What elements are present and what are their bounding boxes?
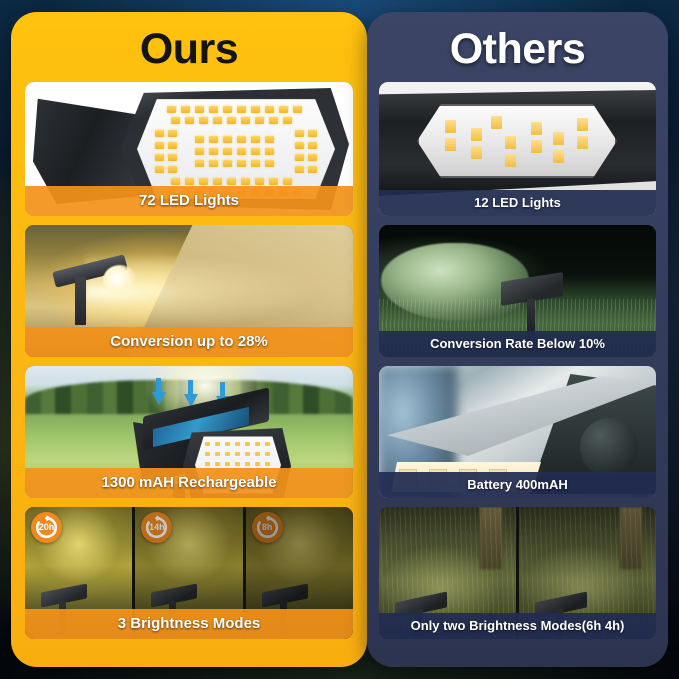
- mount-knob: [580, 418, 638, 476]
- image-three-mode-thumbnails: 20h 14h: [25, 507, 353, 639]
- caption-others-brightness-modes: Only two Brightness Modes(6h 4h): [379, 613, 656, 639]
- caption-ours-brightness-modes: 3 Brightness Modes: [25, 609, 353, 639]
- comparison-infographic: Ours: [0, 0, 679, 679]
- card-others-conversion: Conversion Rate Below 10%: [379, 225, 656, 357]
- lamp-bulb-glow: [103, 265, 137, 295]
- caption-others-conversion: Conversion Rate Below 10%: [379, 331, 656, 357]
- card-others-battery: Battery 400mAH: [379, 366, 656, 498]
- solar-arrow-icon: [152, 392, 166, 405]
- runtime-badge-label: 14h: [149, 523, 165, 532]
- card-ours-battery: 1300 mAH Rechargeable: [25, 366, 353, 498]
- caption-others-battery: Battery 400mAH: [379, 472, 656, 498]
- image-two-mode-thumbnails: Only two Brightness Modes(6h 4h): [379, 507, 656, 639]
- card-ours-brightness-modes: 20h 14h: [25, 507, 353, 639]
- panel-title-ours: Ours: [11, 12, 367, 82]
- caption-others-led-lights: 12 LED Lights: [379, 190, 656, 216]
- image-led-fixture-front: 72 LED Lights: [25, 82, 353, 216]
- fixture-lens-face: [417, 104, 617, 178]
- panel-ours: Ours: [11, 12, 367, 667]
- lamp-stem: [75, 277, 86, 325]
- runtime-badge-20h: 20h: [31, 512, 62, 543]
- card-ours-led-lights: 72 LED Lights: [25, 82, 353, 216]
- runtime-badge-8h: 8h: [252, 512, 283, 543]
- runtime-badge-label: 8h: [262, 523, 273, 532]
- caption-ours-led-lights: 72 LED Lights: [25, 186, 353, 216]
- caption-ours-conversion: Conversion up to 28%: [25, 327, 353, 357]
- card-others-led-lights: 12 LED Lights: [379, 82, 656, 216]
- image-led-fixture-dark: 12 LED Lights: [379, 82, 656, 216]
- panel-title-others: Others: [367, 12, 668, 82]
- card-ours-conversion: Conversion up to 28%: [25, 225, 353, 357]
- runtime-badge-label: 20h: [39, 523, 55, 532]
- card-others-brightness-modes: Only two Brightness Modes(6h 4h): [379, 507, 656, 639]
- image-lit-garden-path: Conversion up to 28%: [25, 225, 353, 357]
- image-grey-solar-cover: Battery 400mAH: [379, 366, 656, 498]
- image-dark-lawn: Conversion Rate Below 10%: [379, 225, 656, 357]
- caption-ours-battery: 1300 mAH Rechargeable: [25, 468, 353, 498]
- panel-others: Others: [367, 12, 668, 667]
- others-card-list: 12 LED Lights Conversion Rate Below 10%: [367, 82, 668, 639]
- image-sunny-park-solar: 1300 mAH Rechargeable: [25, 366, 353, 498]
- ours-card-list: 72 LED Lights Conversion up to 28%: [11, 82, 367, 639]
- runtime-badge-14h: 14h: [141, 512, 172, 543]
